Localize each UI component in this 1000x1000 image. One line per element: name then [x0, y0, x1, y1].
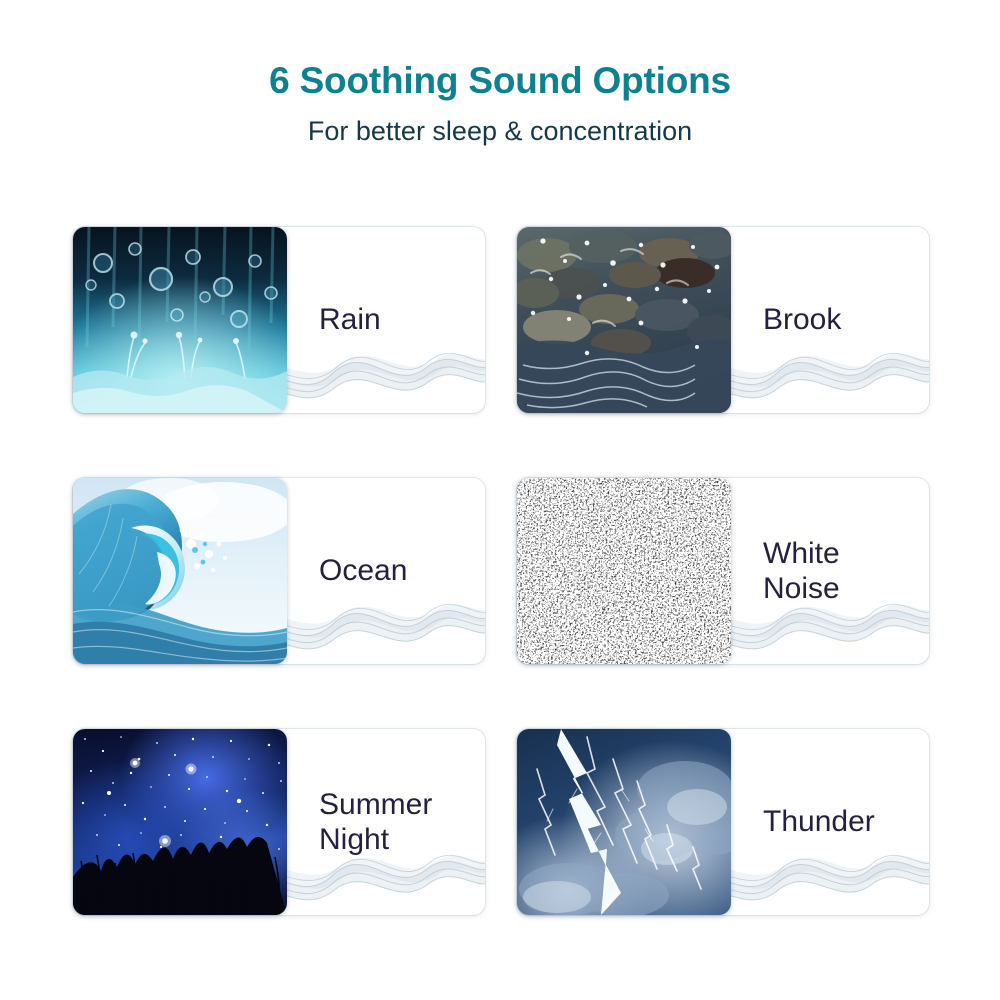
sound-wave-decoration — [287, 580, 485, 662]
sound-wave-decoration — [731, 831, 929, 913]
brook-photo — [517, 227, 731, 413]
card-body: Thunder — [731, 729, 929, 915]
card-body: Ocean — [287, 478, 485, 664]
sound-options-grid: Rain — [73, 227, 929, 915]
sound-card-rain[interactable]: Rain — [73, 227, 485, 413]
sound-card-label: Brook — [763, 302, 841, 337]
lightning-photo — [517, 729, 731, 915]
sound-card-ocean[interactable]: Ocean — [73, 478, 485, 664]
sound-card-label: Thunder — [763, 804, 875, 839]
card-body: Brook — [731, 227, 929, 413]
white-noise-static — [517, 478, 731, 664]
page-title: 6 Soothing Sound Options — [0, 60, 1000, 103]
sound-card-thunder[interactable]: Thunder — [517, 729, 929, 915]
sound-wave-decoration — [287, 329, 485, 411]
ocean-wave-photo — [73, 478, 287, 664]
card-body: Summer Night — [287, 729, 485, 915]
sound-options-page: 6 Soothing Sound Options For better slee… — [0, 0, 1000, 1000]
card-body: Rain — [287, 227, 485, 413]
sound-card-label: Rain — [319, 302, 381, 337]
sound-card-brook[interactable]: Brook — [517, 227, 929, 413]
rain-photo — [73, 227, 287, 413]
sound-card-label: White Noise — [763, 536, 840, 607]
page-header: 6 Soothing Sound Options For better slee… — [0, 60, 1000, 147]
sound-card-label: Ocean — [319, 553, 407, 588]
sound-card-white-noise[interactable]: White Noise — [517, 478, 929, 664]
page-subtitle: For better sleep & concentration — [0, 115, 1000, 147]
card-body: White Noise — [731, 478, 929, 664]
sound-wave-decoration — [731, 329, 929, 411]
sound-card-label: Summer Night — [319, 787, 432, 858]
sound-card-summer-night[interactable]: Summer Night — [73, 729, 485, 915]
starry-night-photo — [73, 729, 287, 915]
